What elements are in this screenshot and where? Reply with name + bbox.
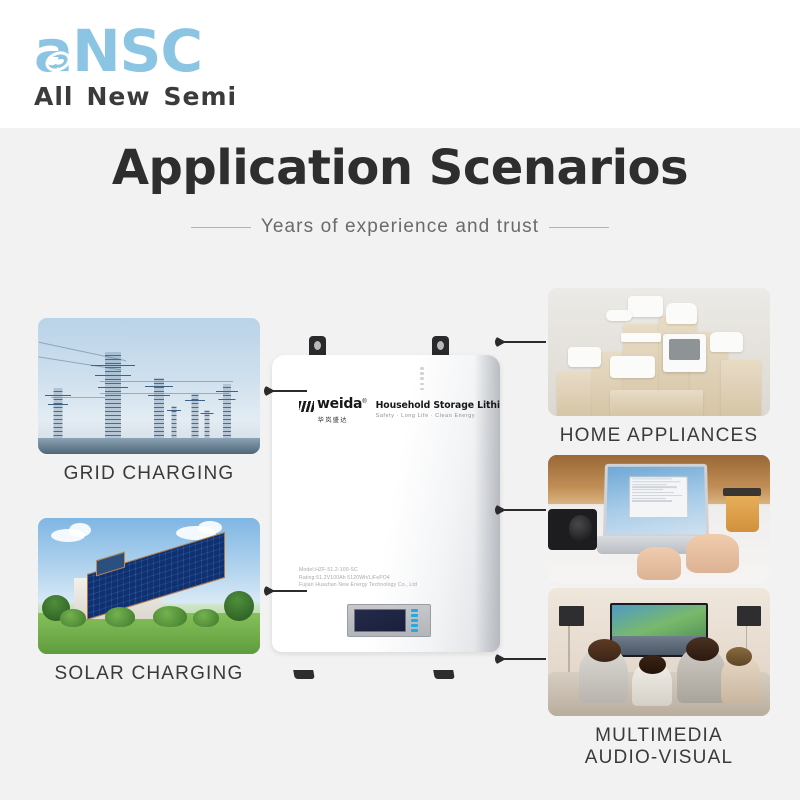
subtitle-rule-right [549, 227, 609, 228]
arrow-battery-to-home [496, 336, 546, 348]
card-home-image [548, 288, 770, 416]
battery-spec-model: Model:HZF-51.2-100-SC [299, 567, 417, 575]
subtitle-row: Years of experience and trust [0, 216, 800, 238]
subtitle-rule-left [191, 227, 251, 228]
battery-foot-left [293, 670, 315, 679]
card-grid-image [38, 318, 260, 454]
registered-mark: ® [362, 399, 366, 405]
card-solar-charging[interactable]: SOLAR CHARGING [38, 518, 260, 685]
battery-key-1[interactable] [411, 609, 418, 612]
title-block: Application Scenarios Years of experienc… [0, 140, 800, 238]
arrow-battery-to-office [496, 504, 546, 516]
battery-enclosure: weida® 华岚盛达 Household Storage Lithium Ba… [272, 355, 500, 652]
battery-key-2[interactable] [411, 614, 418, 617]
card-multimedia-label-line2: AUDIO-VISUAL [548, 747, 770, 769]
card-home-appliances[interactable]: HOME APPLIANCES [548, 288, 770, 447]
scene-family-watching-tv [548, 588, 770, 716]
weida-logo-icon [299, 401, 314, 412]
vent-slots [420, 367, 424, 389]
battery-tagline-sub: Safety · Long Life · Clean Energy [376, 413, 500, 419]
scene-power-towers [38, 318, 260, 454]
brand-logo[interactable]: aNSC AllNewSemi [34, 22, 250, 111]
logo-word-all: All [34, 82, 74, 111]
scene-solar-house [38, 518, 260, 654]
battery-brand-name: weida [317, 399, 362, 410]
card-grid-charging[interactable]: GRID CHARGING [38, 318, 260, 485]
battery-keypad[interactable] [411, 609, 418, 632]
battery-branding: weida® 华岚盛达 Household Storage Lithium Ba… [299, 399, 500, 424]
card-multimedia-image [548, 588, 770, 716]
battery-lcd-display [354, 609, 406, 632]
battery-spec-rating: Rating:51.2V100Ah 5120Wh/LiFePO4 [299, 575, 417, 583]
application-scenarios-page: aNSC AllNewSemi Application Scenarios Ye… [0, 0, 800, 800]
logo-word-semi: Semi [163, 82, 237, 111]
card-solar-label: SOLAR CHARGING [38, 663, 260, 685]
battery-key-3[interactable] [411, 619, 418, 622]
page-header: aNSC AllNewSemi [0, 0, 800, 128]
battery-key-5[interactable] [411, 629, 418, 632]
card-multimedia-audio-visual[interactable]: MULTIMEDIA AUDIO-VISUAL [548, 588, 770, 770]
arrow-battery-to-multimedia [496, 653, 546, 665]
logo-wordmark: aNSC [34, 22, 202, 80]
arrow-solar-to-battery [265, 585, 307, 597]
scene-home-appliances [548, 288, 770, 416]
card-grid-label: GRID CHARGING [38, 463, 260, 485]
card-home-label: HOME APPLIANCES [548, 425, 770, 447]
page-title: Application Scenarios [0, 140, 800, 196]
page-subtitle: Years of experience and trust [261, 216, 539, 238]
battery-foot-right [433, 670, 455, 679]
battery-spec-label: Model:HZF-51.2-100-SC Rating:51.2V100Ah … [299, 567, 417, 590]
card-office-image [548, 455, 770, 583]
arrow-grid-to-battery [265, 385, 307, 397]
card-multimedia-label: MULTIMEDIA AUDIO-VISUAL [548, 725, 770, 770]
battery-control-panel[interactable] [347, 604, 431, 637]
card-solar-image [38, 518, 260, 654]
battery-spec-manufacturer: Fujian Huashan New Energy Technology Co.… [299, 582, 417, 590]
scene-office-computers [548, 455, 770, 583]
card-multimedia-label-line1: MULTIMEDIA [548, 725, 770, 747]
logo-word-new: New [87, 82, 151, 111]
logo-tagline: AllNewSemi [34, 82, 250, 111]
battery-tagline-main: Household Storage Lithium Battery [376, 400, 500, 411]
battery-key-4[interactable] [411, 624, 418, 627]
battery-brand-chinese: 华岚盛达 [299, 415, 367, 424]
